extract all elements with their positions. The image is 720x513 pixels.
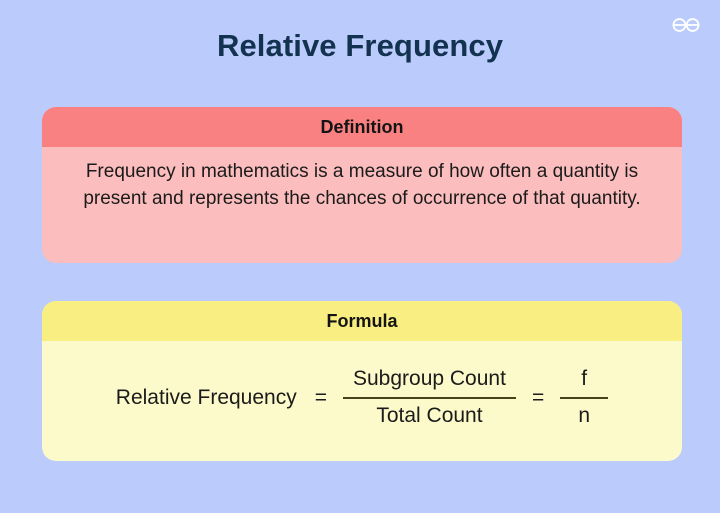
formula-card: Formula Relative Frequency = Subgroup Co… xyxy=(42,301,682,461)
page-title: Relative Frequency xyxy=(0,28,720,64)
fraction-numerator-subgroup-count: Subgroup Count xyxy=(343,366,516,392)
formula-label: Relative Frequency xyxy=(116,386,299,410)
fraction-numerator-f: f xyxy=(575,366,593,392)
fraction-subgroup-over-total: Subgroup Count Total Count xyxy=(343,366,516,429)
definition-text: Frequency in mathematics is a measure of… xyxy=(76,159,648,213)
fraction-bar-1 xyxy=(343,397,516,399)
definition-card: Definition Frequency in mathematics is a… xyxy=(42,107,682,263)
equals-sign-2: = xyxy=(516,386,560,410)
fraction-denominator-total-count: Total Count xyxy=(366,403,492,429)
formula-body: Relative Frequency = Subgroup Count Tota… xyxy=(42,341,682,454)
definition-body: Frequency in mathematics is a measure of… xyxy=(42,147,682,233)
fraction-f-over-n: f n xyxy=(560,366,608,429)
definition-header: Definition xyxy=(42,107,682,147)
fraction-denominator-n: n xyxy=(572,403,596,429)
formula-header: Formula xyxy=(42,301,682,341)
equals-sign-1: = xyxy=(299,386,343,410)
fraction-bar-2 xyxy=(560,397,608,399)
